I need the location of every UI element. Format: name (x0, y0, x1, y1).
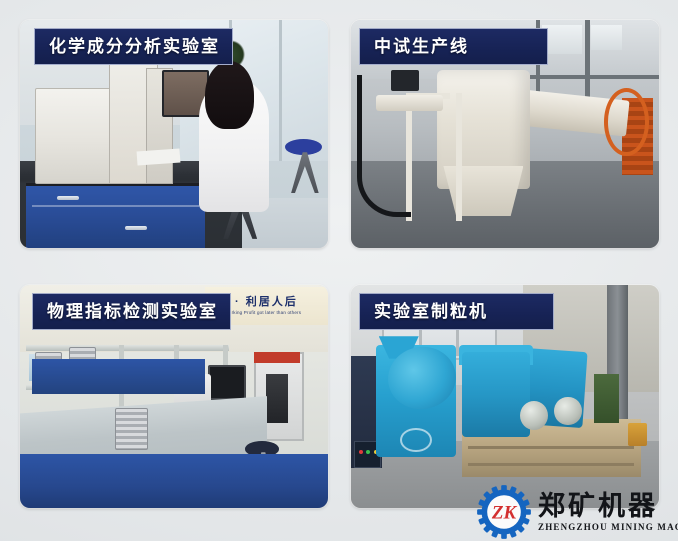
panel-lab-granulator[interactable]: 实验室制粒机 (351, 285, 659, 508)
wall-sign-en: rking Profit got later than others (232, 310, 302, 315)
bench-cabinets (20, 454, 328, 508)
watermark-company-en: ZHENGZHOU MINING MACHINERY (538, 523, 678, 532)
caption-chemical-analysis-lab: 化学成分分析实验室 (34, 28, 233, 65)
caption-text: 中试生产线 (374, 38, 469, 55)
panel-physical-index-testing-lab[interactable]: · 利居人后 rking Profit got later than other… (20, 285, 328, 508)
panel-chemical-analysis-lab[interactable]: 化学成分分析实验室 (20, 20, 328, 248)
caption-text: 化学成分分析实验室 (49, 38, 220, 55)
caption-text: 实验室制粒机 (374, 303, 488, 320)
caption-pilot-production-line: 中试生产线 (359, 28, 548, 65)
caption-text: 物理指标检测实验室 (47, 303, 218, 320)
caption-physical-index-testing-lab: 物理指标检测实验室 (32, 293, 231, 330)
wall-sign-zh: · 利居人后 (235, 297, 298, 308)
caption-lab-granulator: 实验室制粒机 (359, 293, 554, 330)
panel-pilot-production-line[interactable]: 中试生产线 (351, 20, 659, 248)
slide-canvas: 化学成分分析实验室 中试生产线 (0, 0, 678, 541)
